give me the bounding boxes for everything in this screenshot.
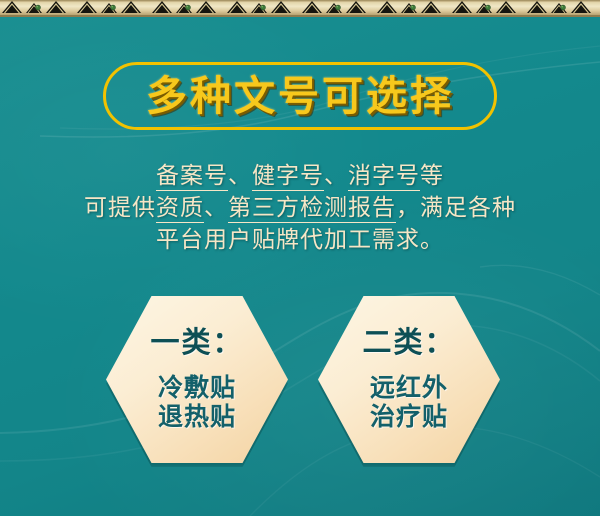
category-two-title: 二类： (362, 328, 455, 357)
category-one-item: 退热贴 (158, 402, 236, 431)
body-segment: 平台用户贴牌代加工需求。 (156, 227, 444, 253)
body-segment-underlined: 备案号 (156, 163, 228, 191)
body-line: 备案号、健字号、消字号等 (0, 160, 600, 192)
page-title: 多种文号可选择 (146, 76, 454, 117)
body-segment-underlined: 第三方检测报告 (228, 195, 396, 223)
body-line: 可提供资质、第三方检测报告，满足各种 (0, 192, 600, 224)
title-banner: 多种文号可选择 (103, 62, 497, 130)
body-line: 平台用户贴牌代加工需求。 (0, 224, 600, 256)
poster-canvas: 多种文号可选择 备案号、健字号、消字号等 可提供资质、第三方检测报告，满足各种 … (0, 0, 600, 516)
body-segment: 、 (324, 163, 348, 189)
category-one-item: 冷敷贴 (158, 373, 236, 402)
body-segment-underlined: 健字号 (252, 163, 324, 191)
body-segment: 、 (228, 163, 252, 189)
body-paragraph: 备案号、健字号、消字号等 可提供资质、第三方检测报告，满足各种 平台用户贴牌代加… (0, 160, 600, 256)
decorative-border-top (0, 0, 600, 17)
greek-key-motif-pattern (0, 0, 600, 17)
body-segment: 等 (420, 163, 444, 189)
body-segment: ，满足各种 (396, 195, 516, 221)
category-two-item: 远红外 (370, 373, 448, 402)
body-segment-underlined: 资质 (156, 195, 204, 223)
category-card-two[interactable]: 二类： 远红外 治疗贴 (318, 296, 500, 463)
category-two-item: 治疗贴 (370, 402, 448, 431)
background-swirl-bottom (0, 255, 600, 516)
category-card-one[interactable]: 一类： 冷敷贴 退热贴 (106, 296, 288, 463)
body-segment: 、 (204, 195, 228, 221)
body-segment-underlined: 消字号 (348, 163, 420, 191)
category-one-title: 一类： (150, 328, 243, 357)
body-segment: 可提供 (84, 195, 156, 221)
